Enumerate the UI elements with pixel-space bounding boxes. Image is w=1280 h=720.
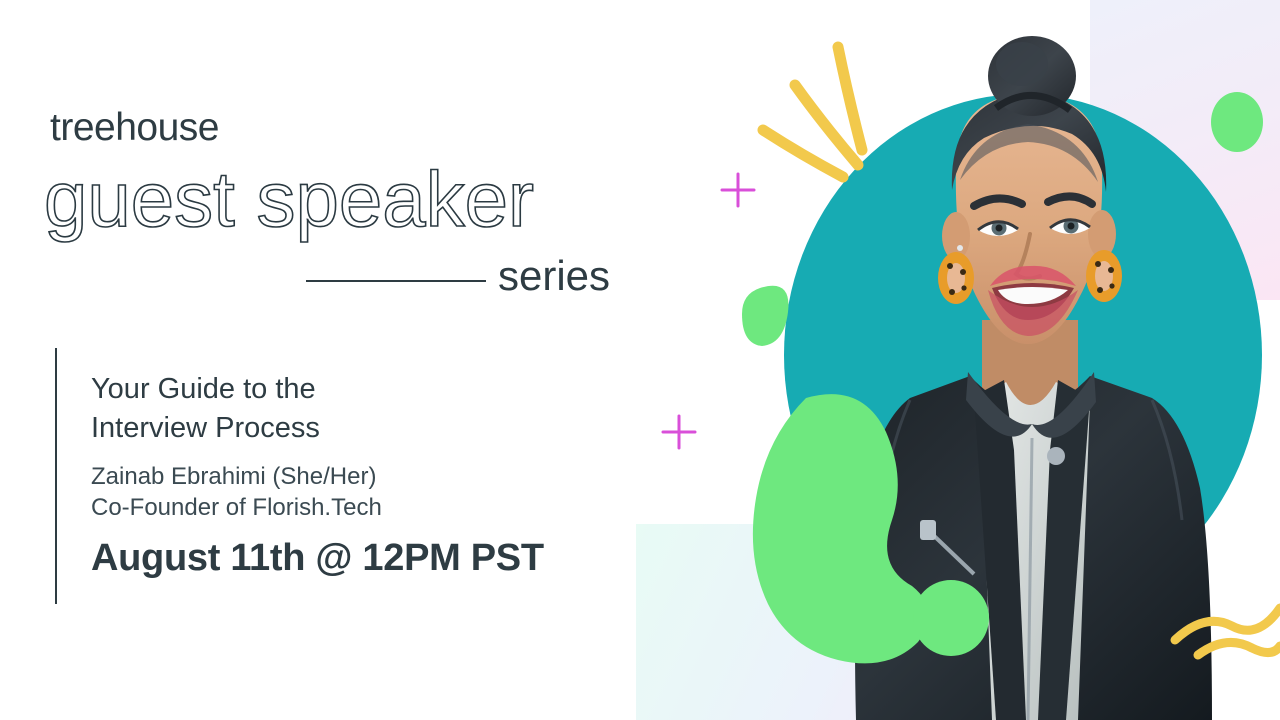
headline-outlined: guest speaker	[44, 160, 534, 238]
event-date-time: August 11th @ 12PM PST	[91, 536, 544, 582]
talk-title-line-2: Interview Process	[91, 409, 561, 448]
series-divider-rule	[306, 280, 486, 282]
plus-mark-top	[722, 174, 754, 206]
talk-title-line-1: Your Guide to the	[91, 370, 561, 409]
vertical-accent-rule	[55, 348, 57, 604]
talk-title: Your Guide to the Interview Process	[91, 370, 561, 448]
text-column: treehouse guest speaker series Your Guid…	[0, 0, 660, 720]
slide-canvas: treehouse guest speaker series Your Guid…	[0, 0, 1280, 720]
speaker-name: Zainab Ebrahimi (She/Her)	[91, 461, 376, 493]
speaker-role: Co-Founder of Florish.Tech	[91, 492, 382, 524]
series-label: series	[498, 255, 610, 297]
brand-wordmark: treehouse	[50, 108, 219, 147]
speaker-portrait	[760, 20, 1280, 720]
plus-mark-bottom	[663, 416, 695, 448]
